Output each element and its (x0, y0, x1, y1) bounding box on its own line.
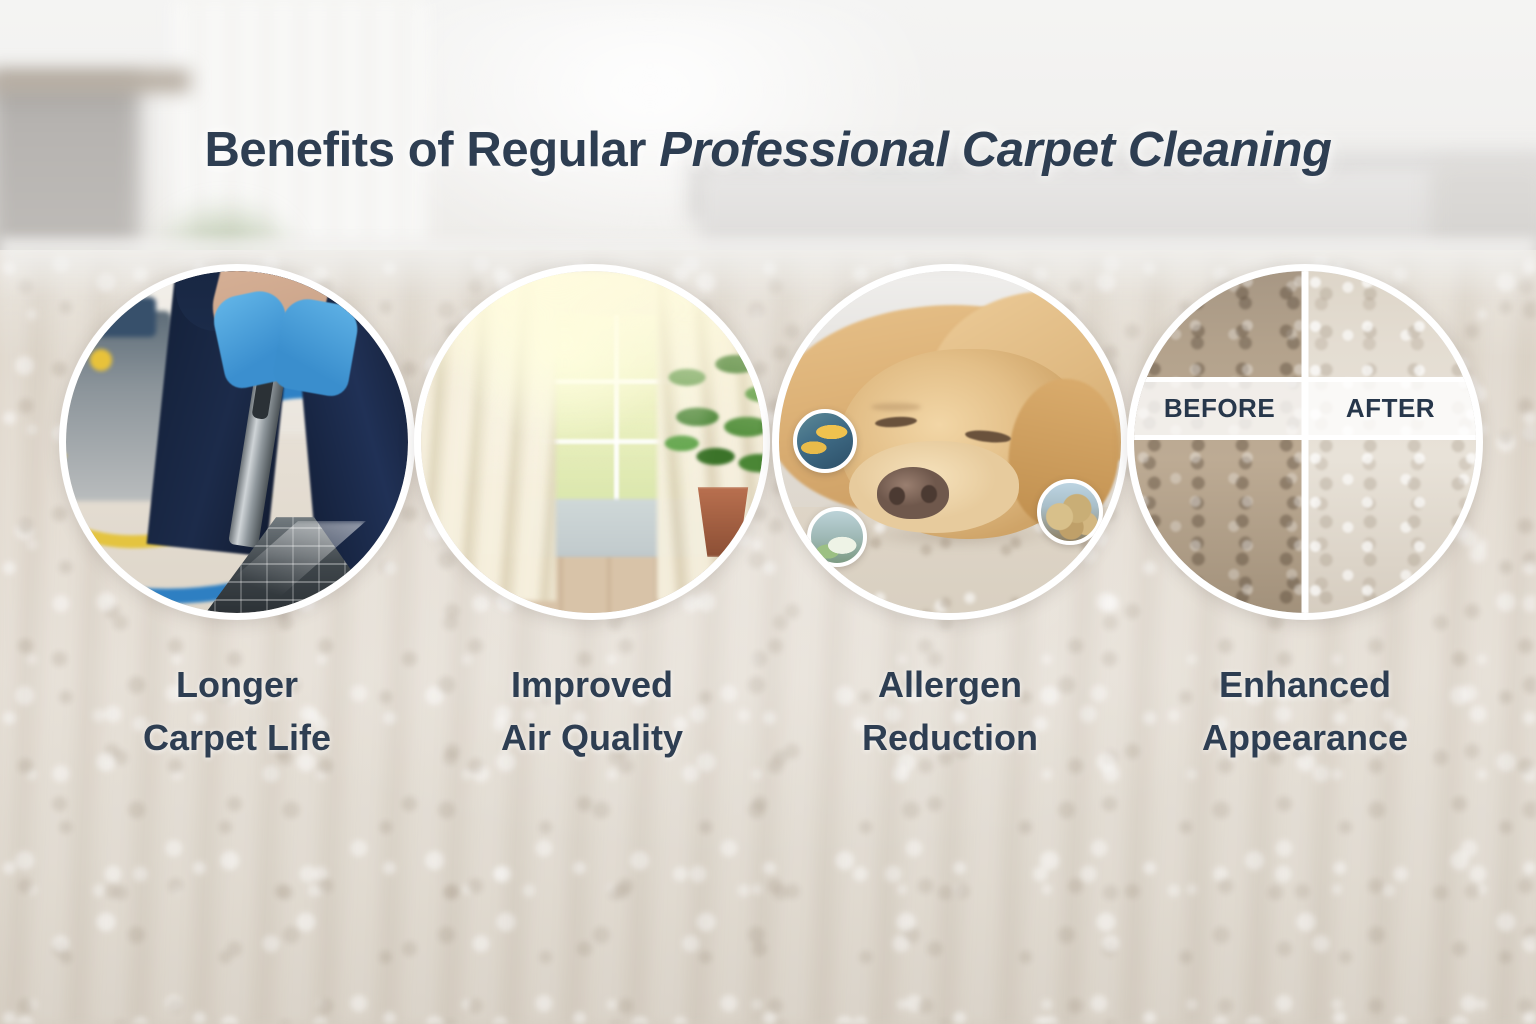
caption-line-2: Reduction (772, 711, 1128, 764)
benefit-longer-carpet-life[interactable] (59, 264, 415, 620)
caption-line-2: Carpet Life (59, 711, 415, 764)
benefit-improved-air-quality[interactable] (414, 264, 770, 620)
caption-enhanced-appearance: Enhanced Appearance (1127, 658, 1483, 764)
badge-pollen-icon (1037, 479, 1103, 545)
caption-line-1: Longer (59, 658, 415, 711)
sun-rays (421, 271, 763, 613)
sleeping-dog-image (779, 271, 1121, 613)
badge-tissue-icon (807, 507, 867, 567)
benefit-image-circle-1[interactable] (59, 264, 415, 620)
benefit-image-circle-2[interactable] (414, 264, 770, 620)
sunlit-window-image (421, 271, 763, 613)
benefit-allergen-reduction[interactable] (772, 264, 1128, 620)
benefits-row: BEFORE AFTER (0, 0, 1536, 1024)
benefit-image-circle-4[interactable]: BEFORE AFTER (1127, 264, 1483, 620)
before-label: BEFORE (1134, 385, 1305, 431)
carpet-cleaning-technician-image (66, 271, 408, 613)
dog-nose (877, 467, 949, 519)
caption-line-1: Improved (414, 658, 770, 711)
caption-line-2: Air Quality (414, 711, 770, 764)
after-label: AFTER (1305, 385, 1476, 431)
caption-longer-carpet-life: Longer Carpet Life (59, 658, 415, 764)
caption-improved-air-quality: Improved Air Quality (414, 658, 770, 764)
caption-allergen-reduction: Allergen Reduction (772, 658, 1128, 764)
benefit-enhanced-appearance[interactable]: BEFORE AFTER (1127, 264, 1483, 620)
badge-dust-mite-icon (793, 409, 857, 473)
benefit-image-circle-3[interactable] (772, 264, 1128, 620)
caption-line-1: Allergen (772, 658, 1128, 711)
before-after-carpet-image: BEFORE AFTER (1134, 271, 1476, 613)
infographic-canvas: Benefits of Regular Professional Carpet … (0, 0, 1536, 1024)
caption-line-1: Enhanced (1127, 658, 1483, 711)
caption-line-2: Appearance (1127, 711, 1483, 764)
before-after-divider (1302, 271, 1309, 613)
